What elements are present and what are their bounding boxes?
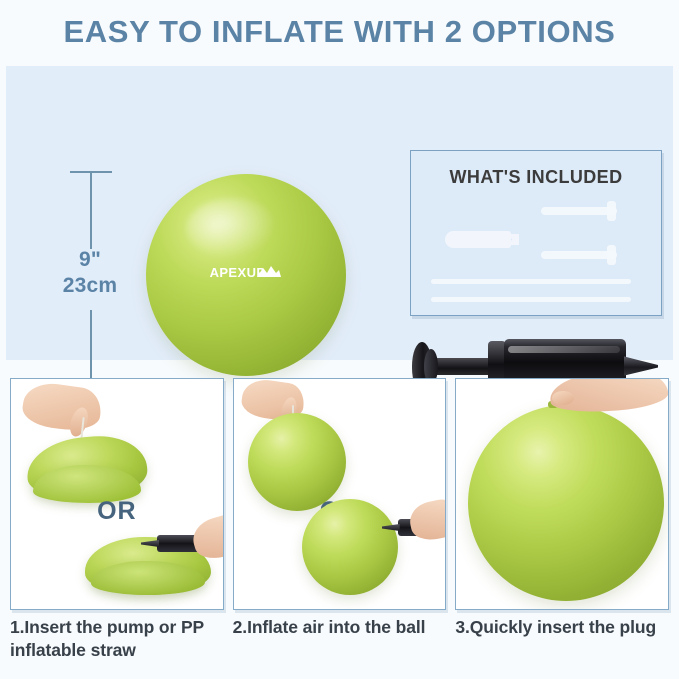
inflating-ball-2 bbox=[302, 499, 398, 595]
product-ball: APEXUP bbox=[146, 174, 346, 376]
whats-included-card: WHAT'S INCLUDED bbox=[410, 150, 662, 316]
mountain-peak-icon bbox=[256, 265, 282, 281]
inflated-ball bbox=[468, 405, 664, 601]
hero-panel: 9" 23cm APEXUP WHAT'S INCLUDED bbox=[6, 66, 673, 360]
step-card-3[interactable] bbox=[455, 378, 669, 610]
infographic-page: EASY TO INFLATE WITH 2 OPTIONS 9" 23cm A… bbox=[0, 0, 679, 679]
step-card-1[interactable]: OR bbox=[10, 378, 224, 610]
pump-shaft bbox=[428, 358, 492, 375]
or-label-1: OR bbox=[11, 497, 223, 526]
pump-nozzle-cap-1-icon bbox=[607, 201, 616, 221]
page-title: EASY TO INFLATE WITH 2 OPTIONS bbox=[0, 14, 679, 50]
hand-icon bbox=[20, 380, 103, 434]
pump-nozzle-needle-2-icon bbox=[541, 251, 617, 259]
captions-row: 1.Insert the pump or PP inflatable straw… bbox=[10, 616, 669, 676]
step-caption-3: 3.Quickly insert the plug bbox=[455, 616, 669, 676]
steps-row: OR OR bbox=[10, 378, 669, 610]
dimension-label: 9" 23cm bbox=[40, 247, 140, 299]
pump-nozzle-tip bbox=[624, 354, 658, 378]
pump-nozzle-needle-1-icon bbox=[541, 207, 617, 215]
plug-remover-tool-icon bbox=[445, 231, 511, 248]
dimension-centimeters: 23cm bbox=[40, 273, 140, 299]
step-caption-2: 2.Inflate air into the ball bbox=[233, 616, 447, 676]
dimension-inches: 9" bbox=[40, 247, 140, 273]
ball-highlight bbox=[186, 198, 278, 259]
whats-included-title: WHAT'S INCLUDED bbox=[411, 167, 661, 188]
step-caption-1: 1.Insert the pump or PP inflatable straw bbox=[10, 616, 224, 676]
step-card-2[interactable]: OR bbox=[233, 378, 447, 610]
pump-nozzle-cap-2-icon bbox=[607, 245, 616, 265]
pp-inflatable-straw-2-icon bbox=[431, 297, 631, 302]
dimension-line-upper bbox=[90, 171, 92, 249]
pp-inflatable-straw-1-icon bbox=[431, 279, 631, 284]
deflated-ball-bottom-base bbox=[91, 561, 205, 595]
pump-barrel-highlight bbox=[508, 346, 620, 353]
brand-logo: APEXUP bbox=[146, 265, 346, 281]
dimension-line-lower bbox=[90, 310, 92, 384]
